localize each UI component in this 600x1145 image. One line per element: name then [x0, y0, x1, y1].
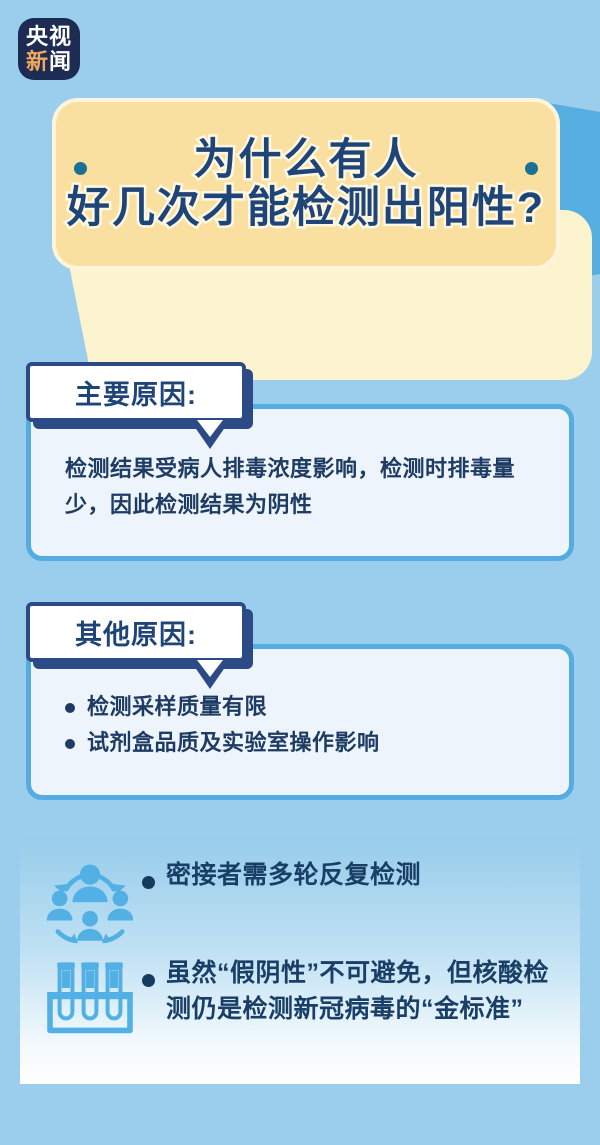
footer-point-1-text: 密接者需多轮反复检测 [166, 858, 421, 894]
bubble-tail-other-inner [197, 660, 223, 677]
section-main-reason: 主要原因: 检测结果受病人排毒浓度影响，检测时排毒量少，因此检测结果为阴性 [26, 362, 574, 561]
logo-line-2: 新 闻 [26, 51, 72, 73]
title-banner: 为什么有人 好几次才能检测出阳性? [52, 98, 560, 270]
list-item: 检测采样质量有限 [65, 689, 537, 725]
section-label-other: 其他原因: [26, 602, 246, 662]
footer-point-1: 密接者需多轮反复检测 [38, 858, 421, 950]
section-label-main-text: 主要原因: [75, 373, 197, 412]
other-reasons-list: 检测采样质量有限 试剂盒品质及实验室操作影响 [65, 689, 537, 761]
footer-bullet-dot-icon-2 [142, 974, 155, 987]
people-circle-icon [38, 858, 142, 950]
section-label-main: 主要原因: [26, 362, 246, 422]
cctv-news-logo: 央视 新 闻 [18, 18, 80, 80]
bullet-dot-icon [65, 703, 75, 713]
title-banner-area: 为什么有人 好几次才能检测出阳性? [0, 98, 600, 288]
logo-text-xin: 新 [26, 51, 49, 73]
bubble-tail-main-inner [197, 420, 223, 437]
content-box-main-reason: 检测结果受病人排毒浓度影响，检测时排毒量少，因此检测结果为阴性 [26, 404, 574, 561]
footer-point-2: 虽然“假阴性”不可避免，但核酸检测仍是检测新冠病毒的“金标准” [38, 956, 556, 1036]
other-reason-text-2: 试剂盒品质及实验室操作影响 [87, 725, 380, 761]
test-tube-rack-icon [38, 956, 142, 1036]
section-label-other-text: 其他原因: [75, 613, 197, 652]
footer-bullet-dot-icon-1 [142, 876, 155, 889]
page-title-line-1: 为什么有人 [194, 137, 419, 183]
banner-dot-left-icon [74, 162, 87, 175]
main-reason-body: 检测结果受病人排毒浓度影响，检测时排毒量少，因此检测结果为阴性 [65, 451, 537, 522]
page-title-line-2: 好几次才能检测出阳性? [67, 185, 545, 231]
banner-dot-right-icon [525, 162, 538, 175]
footer-panel: 密接者需多轮反复检测 [20, 838, 580, 1084]
list-item: 试剂盒品质及实验室操作影响 [65, 725, 537, 761]
bullet-dot-icon [65, 739, 75, 749]
footer-point-2-text: 虽然“假阴性”不可避免，但核酸检测仍是检测新冠病毒的“金标准” [166, 956, 556, 1027]
logo-text-yangshi: 央视 [26, 26, 72, 48]
other-reason-text-1: 检测采样质量有限 [87, 689, 267, 725]
content-box-other-reasons: 检测采样质量有限 试剂盒品质及实验室操作影响 [26, 644, 574, 800]
section-other-reasons: 其他原因: 检测采样质量有限 试剂盒品质及实验室操作影响 [26, 602, 574, 800]
infographic-poster: 央视 新 闻 为什么有人 好几次才能检测出阳性? 主要原因: 检测结果受病人排毒… [0, 0, 600, 1145]
logo-text-wen: 闻 [49, 51, 72, 73]
logo-line-1: 央视 [26, 26, 72, 48]
